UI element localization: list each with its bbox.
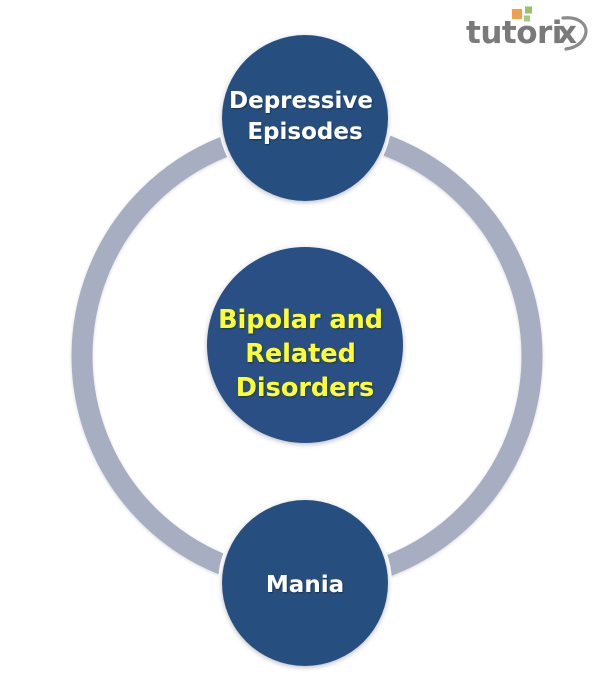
node-depressive-episodes-circle [222, 35, 388, 201]
node-label-line: Related [245, 339, 356, 369]
node-bipolar-and-related-disorders[interactable]: Bipolar and Related Disorders [203, 243, 407, 447]
node-mania-label: Mania [266, 572, 344, 598]
node-label-line: Bipolar and [218, 305, 383, 335]
node-mania[interactable]: Mania [218, 496, 392, 670]
cycle-diagram: Depressive Episodes Bipolar and Related … [0, 0, 600, 690]
node-label-line: Mania [266, 572, 344, 598]
node-depressive-episodes[interactable]: Depressive Episodes [218, 31, 392, 205]
node-label-line: Depressive [229, 88, 373, 114]
node-label-line: Episodes [247, 119, 362, 145]
diagram-svg: Depressive Episodes Bipolar and Related … [0, 0, 600, 690]
diagram-page: tutori x [0, 0, 600, 690]
node-label-line: Disorders [236, 373, 374, 403]
